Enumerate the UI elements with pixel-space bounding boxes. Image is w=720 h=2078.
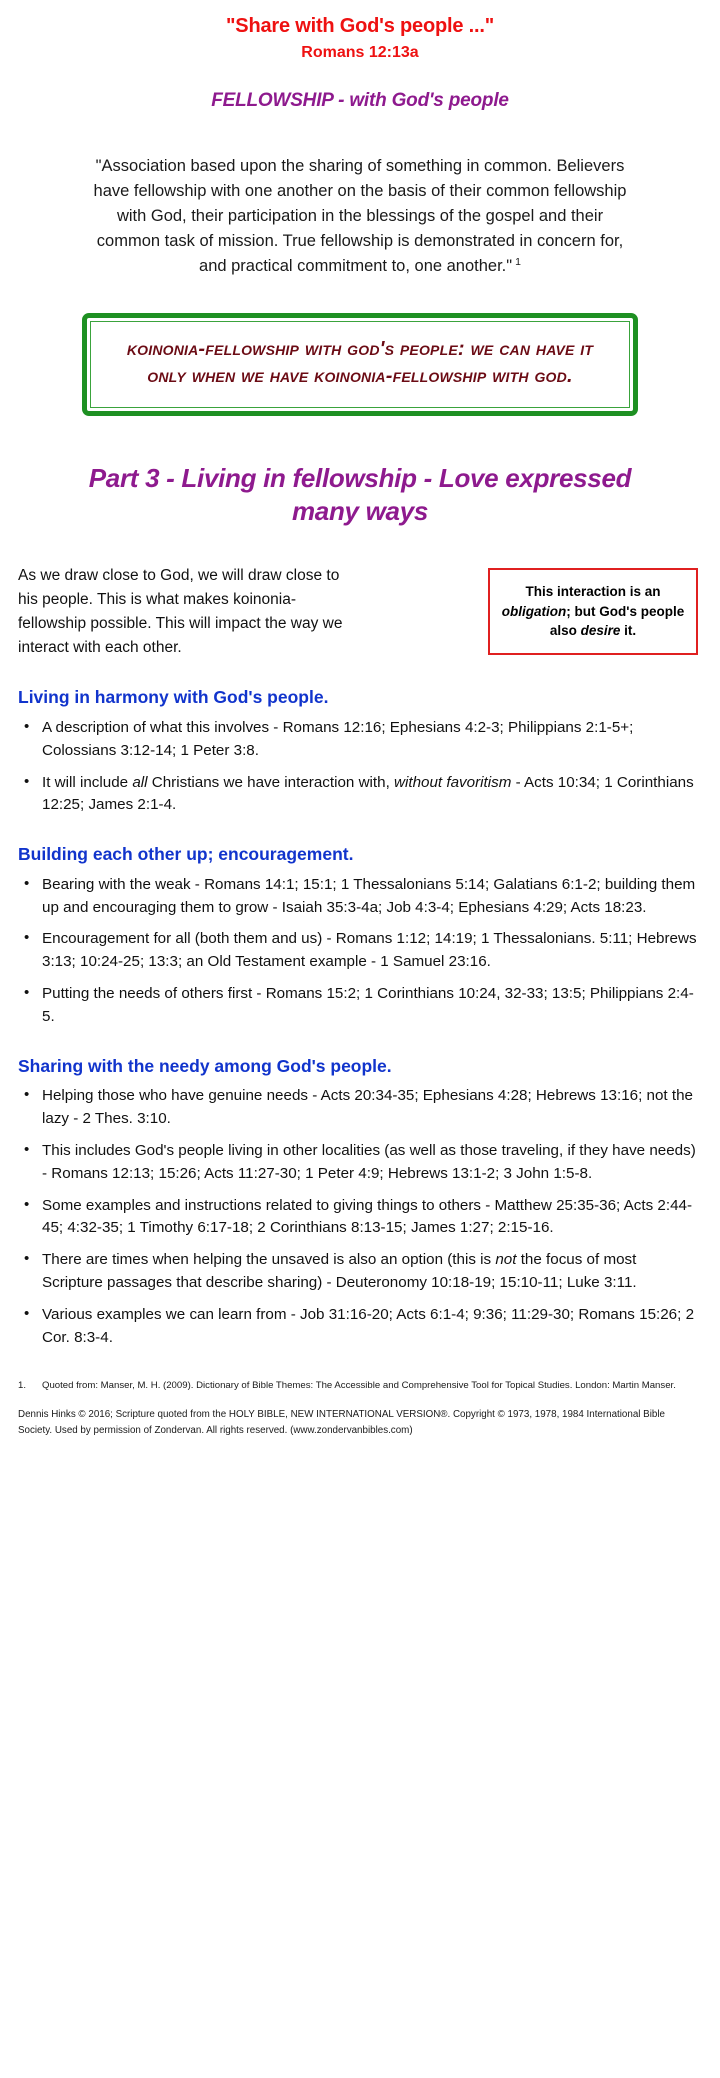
footnotes: 1.Quoted from: Manser, M. H. (2009). Dic… — [0, 1379, 720, 1438]
red-callout-line2b: it. — [620, 623, 636, 638]
definition-text: "Association based upon the sharing of s… — [94, 157, 627, 275]
red-callout-line1b: an — [645, 584, 661, 599]
intro-paragraph: As we draw close to God, we will draw cl… — [18, 564, 348, 660]
part-heading: Part 3 - Living in fellowship - Love exp… — [80, 462, 640, 529]
bullet-text: Helping those who have genuine needs - A… — [42, 1087, 693, 1127]
list-item: It will include all Christians we have i… — [18, 772, 698, 818]
verse-reference: Romans 12:13a — [0, 43, 720, 64]
footnote-number: 1. — [18, 1379, 32, 1394]
list-item: This includes God's people living in oth… — [18, 1140, 698, 1186]
page-title: "Share with God's people ..." — [0, 14, 720, 39]
section-heading: Sharing with the needy among God's peopl… — [18, 1055, 698, 1078]
list-item: A description of what this involves - Ro… — [18, 717, 698, 763]
bullet-list: Bearing with the weak - Romans 14:1; 15:… — [18, 874, 698, 1029]
red-callout-emphasis-desire: desire — [581, 623, 621, 638]
red-callout-box: This interaction is an obligation; but G… — [488, 568, 698, 655]
red-callout-emphasis-obligation: obligation — [502, 604, 567, 619]
title-block: "Share with God's people ..." Romans 12:… — [0, 0, 720, 112]
red-callout-line1c: ; but — [566, 604, 595, 619]
subject-title: FELLOWSHIP - with God's people — [0, 90, 720, 112]
list-item: Some examples and instructions related t… — [18, 1195, 698, 1241]
list-item: Bearing with the weak - Romans 14:1; 15:… — [18, 874, 698, 920]
list-item: Helping those who have genuine needs - A… — [18, 1085, 698, 1131]
content-section: Building each other up; encouragement.Be… — [0, 843, 720, 1029]
bullet-text: There are times when helping the unsaved… — [42, 1251, 495, 1268]
bullet-text: Encouragement for all (both them and us)… — [42, 930, 697, 970]
copyright-notice: Dennis Hinks © 2016; Scripture quoted fr… — [18, 1407, 698, 1438]
intro-row: As we draw close to God, we will draw cl… — [0, 564, 720, 660]
footnote-marker: 1 — [515, 256, 521, 268]
bullet-text: Putting the needs of others first - Roma… — [42, 985, 694, 1025]
document-page: "Share with God's people ..." Romans 12:… — [0, 0, 720, 2078]
emphasis-text: all — [132, 774, 147, 791]
footnote-text: Quoted from: Manser, M. H. (2009). Dicti… — [42, 1379, 698, 1394]
bullet-text: Various examples we can learn from - Job… — [42, 1306, 694, 1346]
emphasis-text: not — [495, 1251, 516, 1268]
footnote-list: 1.Quoted from: Manser, M. H. (2009). Dic… — [18, 1379, 698, 1394]
sections-container: Living in harmony with God's people.A de… — [0, 686, 720, 1349]
red-callout-line1a: This interaction is — [525, 584, 641, 599]
green-callout-inner: Koinonia-fellowship with God's people: W… — [90, 321, 630, 407]
green-callout-text: Koinonia-fellowship with God's people: W… — [117, 336, 603, 390]
list-item: Various examples we can learn from - Job… — [18, 1304, 698, 1350]
list-item: Encouragement for all (both them and us)… — [18, 928, 698, 974]
bullet-text: Some examples and instructions related t… — [42, 1197, 692, 1237]
bullet-list: A description of what this involves - Ro… — [18, 717, 698, 817]
bullet-text: This includes God's people living in oth… — [42, 1142, 696, 1182]
bullet-list: Helping those who have genuine needs - A… — [18, 1085, 698, 1349]
section-heading: Living in harmony with God's people. — [18, 686, 698, 709]
section-heading: Building each other up; encouragement. — [18, 843, 698, 866]
bullet-text: Christians we have interaction with, — [148, 774, 395, 791]
emphasis-text: without favoritism — [394, 774, 511, 791]
footnote-item: 1.Quoted from: Manser, M. H. (2009). Dic… — [18, 1379, 698, 1394]
content-section: Sharing with the needy among God's peopl… — [0, 1055, 720, 1350]
content-section: Living in harmony with God's people.A de… — [0, 686, 720, 817]
definition-quote: "Association based upon the sharing of s… — [90, 154, 630, 279]
bullet-text: A description of what this involves - Ro… — [42, 719, 633, 759]
list-item: There are times when helping the unsaved… — [18, 1249, 698, 1295]
green-callout-wrapper: Koinonia-fellowship with God's people: W… — [82, 313, 638, 415]
list-item: Putting the needs of others first - Roma… — [18, 983, 698, 1029]
bullet-text: Bearing with the weak - Romans 14:1; 15:… — [42, 876, 695, 916]
green-callout-box: Koinonia-fellowship with God's people: W… — [82, 313, 638, 415]
bullet-text: It will include — [42, 774, 132, 791]
